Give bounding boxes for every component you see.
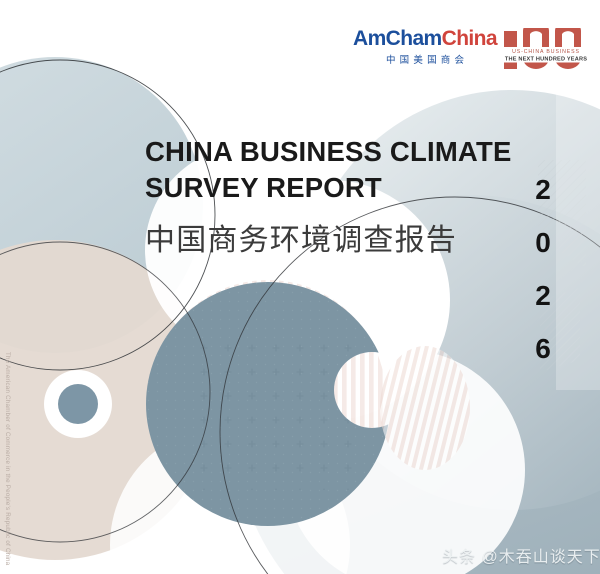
spine-organization-text: The American Chamber of Commerce in the …	[4, 352, 11, 565]
amcham-logo-chinese-name: 中国美国商会	[382, 52, 468, 66]
centennial-100-logo: US-CHINA BUSINESS THE NEXT HUNDRED YEARS	[500, 28, 592, 72]
centennial-tagline-bottom: THE NEXT HUNDRED YEARS	[505, 57, 587, 63]
year-digit-2: 0	[535, 229, 551, 257]
centennial-tagline-top: US-CHINA BUSINESS	[512, 49, 580, 55]
title-english-line-1: CHINA BUSINESS CLIMATE	[145, 134, 525, 170]
title-block: CHINA BUSINESS CLIMATE SURVEY REPORT 中国商…	[145, 134, 525, 259]
report-cover: AmChamChina 中国美国商会	[0, 0, 600, 574]
amcham-china-logo: AmChamChina 中国美国商会	[362, 28, 488, 66]
title-chinese: 中国商务环境调查报告	[145, 215, 525, 259]
logo-block: AmChamChina 中国美国商会	[362, 28, 590, 74]
amcham-logo-china-text: China	[442, 27, 497, 50]
year-digit-3: 2	[535, 282, 551, 310]
year-digit-4: 6	[535, 335, 551, 363]
amcham-logo-wordmark: AmChamChina	[353, 28, 497, 50]
cover-artwork	[0, 0, 600, 574]
title-english-line-2: SURVEY REPORT	[145, 170, 525, 206]
year-digit-1: 2	[535, 176, 551, 204]
amcham-logo-am-text: AmCham	[353, 27, 442, 50]
centennial-100-icon: US-CHINA BUSINESS THE NEXT HUNDRED YEARS	[500, 28, 592, 72]
year-block: 2 0 2 6	[526, 176, 560, 363]
watermark-text: 头条 @木吞山谈天下	[442, 543, 600, 567]
